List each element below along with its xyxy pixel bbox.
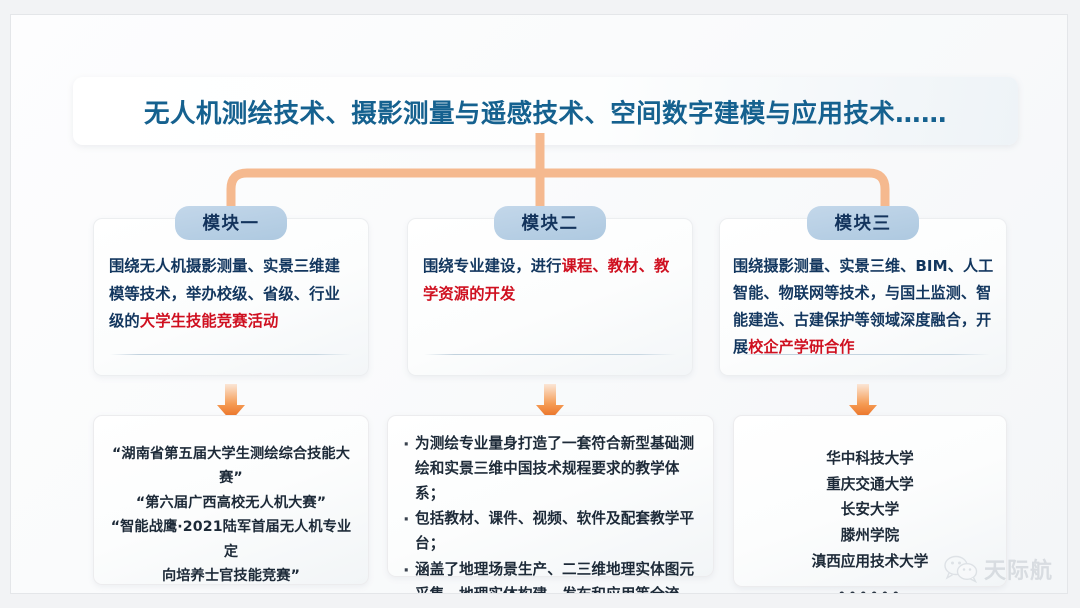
list-item: 为测绘专业量身打造了一套符合新型基础测绘和实景三维中国技术规程要求的教学体系； bbox=[402, 432, 701, 506]
module-1-highlight: 大学生技能竞赛活动 bbox=[140, 312, 279, 330]
outcome-1-line-2: “第六届广西高校无人机大赛” bbox=[104, 491, 358, 515]
module-3-divider bbox=[736, 354, 990, 355]
watermark-label: 天际航 bbox=[984, 553, 1053, 585]
module-2-line-1: 围绕专业建设，进行 bbox=[423, 257, 562, 275]
list-item: 华中科技大学 bbox=[734, 446, 1006, 472]
module-2-badge: 模块二 bbox=[494, 206, 606, 240]
module-card-3: 模块三 围绕摄影测量、实景三维、BIM、人工智能、物联网等技术，与国土监测、智能… bbox=[719, 218, 1007, 376]
outcome-3-university-list: 华中科技大学 重庆交通大学 长安大学 滕州学院 滇西应用技术大学 bbox=[734, 416, 1006, 574]
outcome-card-2: 为测绘专业量身打造了一套符合新型基础测绘和实景三维中国技术规程要求的教学体系； … bbox=[387, 415, 714, 577]
list-item: 长安大学 bbox=[734, 497, 1006, 523]
outcome-3-ellipsis: •••••• bbox=[734, 588, 1006, 594]
list-item: 滕州学院 bbox=[734, 523, 1006, 549]
module-card-2: 模块二 围绕专业建设，进行课程、教材、教学资源的开发 bbox=[407, 218, 693, 376]
list-item: 包括教材、课件、视频、软件及配套教学平台； bbox=[402, 507, 701, 557]
list-item: 涵盖了地理场景生产、二三维地理实体图元采集、地理实体构建、发布和应用等全流程。 bbox=[402, 558, 701, 594]
module-3-body: 围绕摄影测量、实景三维、BIM、人工智能、物联网等技术，与国土监测、智能建造、古… bbox=[720, 219, 1006, 362]
slide-canvas: 无人机测绘技术、摄影测量与遥感技术、空间数字建模与应用技术…… 模块一 围绕无人… bbox=[10, 14, 1068, 594]
module-1-badge: 模块一 bbox=[175, 206, 287, 240]
outcome-1-line-1: “湖南省第五届大学生测绘综合技能大赛” bbox=[104, 442, 358, 491]
outcome-2-bullet-list: 为测绘专业量身打造了一套符合新型基础测绘和实景三维中国技术规程要求的教学体系； … bbox=[388, 416, 713, 594]
module-3-line-1: 围绕摄影测量、实景三维、BIM、 bbox=[733, 257, 963, 275]
outcome-1-line-3: “智能战鹰·2021陆军首届无人机专业定 bbox=[104, 515, 358, 564]
wechat-icon bbox=[944, 555, 978, 583]
watermark: 天际航 bbox=[944, 553, 1053, 585]
list-item: 重庆交通大学 bbox=[734, 472, 1006, 498]
page-title: 无人机测绘技术、摄影测量与遥感技术、空间数字建模与应用技术…… bbox=[144, 93, 947, 130]
module-3-badge: 模块三 bbox=[807, 206, 919, 240]
outcome-card-1: “湖南省第五届大学生测绘综合技能大赛” “第六届广西高校无人机大赛” “智能战鹰… bbox=[93, 415, 369, 585]
module-1-line-1: 围绕无人机摄影测量、实景三维 bbox=[109, 257, 325, 275]
module-card-1: 模块一 围绕无人机摄影测量、实景三维建模等技术，举办校级、省级、行业级的大学生技… bbox=[93, 218, 369, 376]
module-2-highlight-1: 课程、教材、 bbox=[562, 257, 654, 275]
outcome-1-line-4: 向培养士官技能竞赛” bbox=[104, 564, 358, 588]
outcome-1-lines: “湖南省第五届大学生测绘综合技能大赛” “第六届广西高校无人机大赛” “智能战鹰… bbox=[94, 416, 368, 589]
module-1-divider bbox=[110, 354, 352, 355]
module-2-divider bbox=[424, 354, 676, 355]
